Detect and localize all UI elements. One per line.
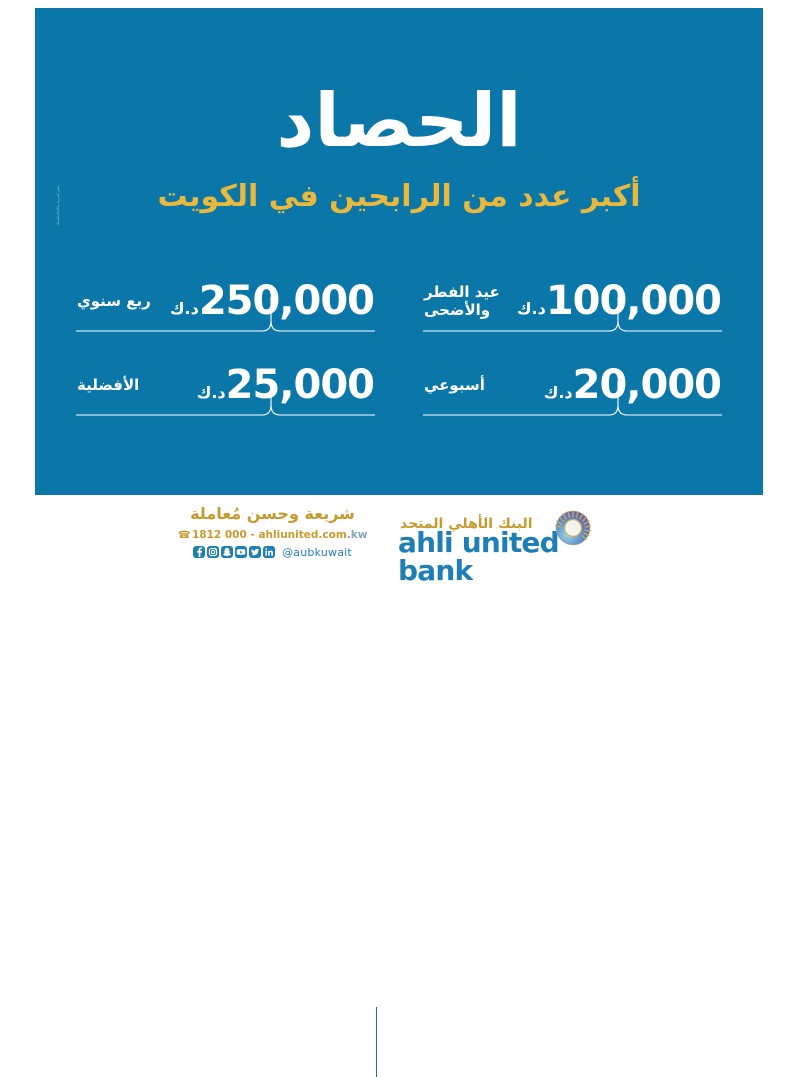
twitter-icon[interactable]	[249, 546, 261, 558]
snapchat-icon[interactable]	[221, 546, 233, 558]
page-subtitle: أكبر عدد من الرابحين في الكويت	[35, 180, 763, 215]
bank-name-arabic: البنك الأهلي المتحد	[398, 517, 568, 531]
bank-logo-block: البنك الأهلي المتحد ahli united bank	[398, 505, 638, 585]
prize-amount-group: 250,000 د.ك	[164, 281, 378, 321]
social-handle[interactable]: @aubkuwait	[282, 546, 352, 559]
prize-card-weekly: 20,000 د.ك أسبوعي	[420, 357, 725, 423]
prize-card-afdhaliya: 25,000 د.ك الأفضلية	[73, 357, 378, 423]
prize-label: ربع سنوي	[73, 292, 164, 310]
social-links: @aubkuwait	[170, 546, 375, 559]
footer-divider	[376, 1007, 377, 1077]
website-tld[interactable]: .kw	[347, 529, 368, 541]
prize-amount-group: 25,000 د.ك	[191, 365, 378, 405]
contact-line[interactable]: ☎1812 000 - ahliunited.com.kw	[170, 529, 375, 541]
bank-name-english: ahli united bank	[398, 529, 638, 585]
prize-content: 250,000 د.ك ربع سنوي	[73, 273, 378, 329]
phone-icon: ☎	[178, 530, 190, 541]
prize-label-line-1: أسبوعي	[424, 376, 528, 394]
footer: شريعة وحسن مُعاملة ☎1812 000 - ahliunite…	[0, 495, 800, 600]
prize-currency: د.ك	[197, 383, 226, 402]
prize-card-eid: 100,000 د.ك عيد الفطر والأضحى	[420, 273, 725, 339]
prize-currency: د.ك	[170, 299, 199, 318]
prize-amount-group: 20,000 د.ك	[538, 365, 725, 405]
prize-label-line-1: ربع سنوي	[77, 292, 154, 310]
prize-amount-group: 100,000 د.ك	[511, 281, 725, 321]
youtube-icon[interactable]	[235, 546, 247, 558]
prize-label: الأفضلية	[73, 376, 191, 394]
sharia-tagline: شريعة وحسن مُعاملة	[170, 505, 375, 523]
prize-amount: 250,000	[199, 281, 374, 321]
linkedin-icon[interactable]	[263, 546, 275, 558]
page-title: الحصاد	[35, 84, 763, 158]
phone-number[interactable]: 1812 000	[192, 529, 247, 541]
website-link[interactable]: ahliunited.com	[258, 529, 346, 541]
prize-label-line-1: الأفضلية	[77, 376, 181, 394]
prize-grid: 100,000 د.ك عيد الفطر والأضحى 250,000 د.…	[73, 273, 725, 443]
hero-panel: تطبق الشروط والأحكام الحصاد الحصاد أكبر …	[35, 8, 763, 495]
prize-card-quarterly: 250,000 د.ك ربع سنوي	[73, 273, 378, 339]
prize-label: أسبوعي	[420, 376, 538, 394]
instagram-icon[interactable]	[207, 546, 219, 558]
prize-amount: 20,000	[573, 365, 721, 405]
prize-content: 25,000 د.ك الأفضلية	[73, 357, 378, 413]
footer-contact-block: شريعة وحسن مُعاملة ☎1812 000 - ahliunite…	[170, 505, 375, 559]
contact-separator: -	[247, 529, 259, 541]
prize-label-line-1: عيد الفطر	[424, 283, 501, 301]
facebook-icon[interactable]	[193, 546, 205, 558]
prize-currency: د.ك	[544, 383, 573, 402]
prize-content: 100,000 د.ك عيد الفطر والأضحى	[420, 273, 725, 329]
prize-content: 20,000 د.ك أسبوعي	[420, 357, 725, 413]
legal-line-2: الحصاد	[56, 216, 60, 225]
prize-currency: د.ك	[517, 299, 546, 318]
prize-label-line-2: والأضحى	[424, 301, 501, 319]
prize-amount: 100,000	[546, 281, 721, 321]
prize-label: عيد الفطر والأضحى	[420, 283, 511, 319]
prize-amount: 25,000	[226, 365, 374, 405]
